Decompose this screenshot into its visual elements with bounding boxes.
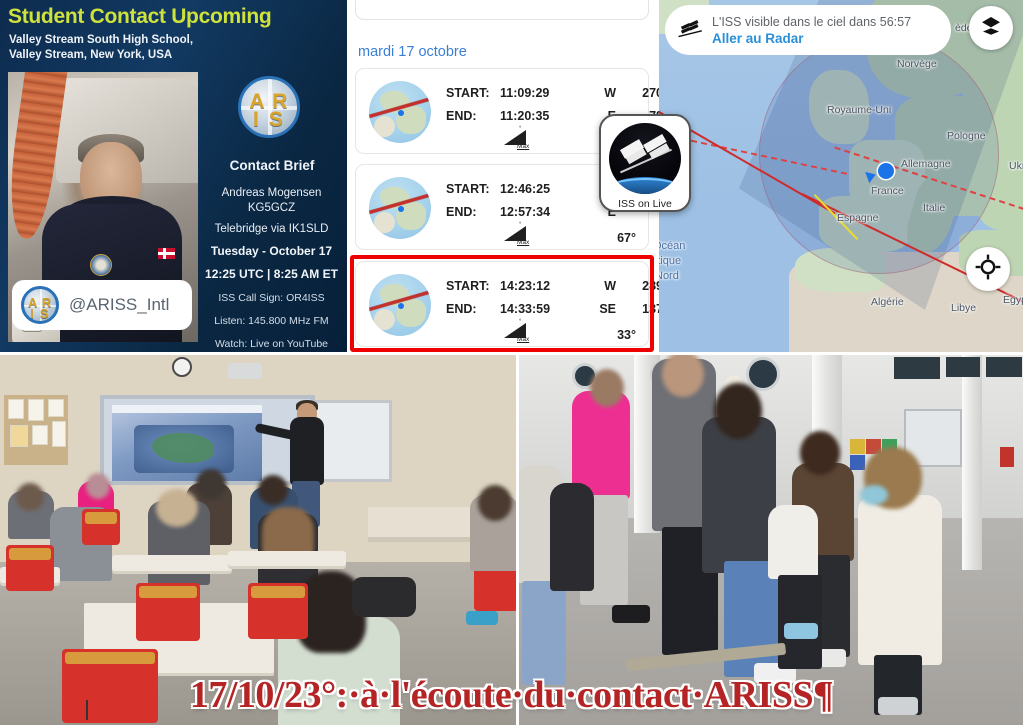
max-elevation-row: ° Max <box>504 223 534 243</box>
ariss-logo-icon: A R I S S <box>238 76 300 138</box>
projected-iss-map <box>112 405 262 481</box>
end-time: 12:57:34 <box>500 205 576 219</box>
screenshot-root: Student Contact Upcoming Valley Stream S… <box>0 0 1023 725</box>
end-label: END: <box>446 302 500 316</box>
pass-globe-thumbnail <box>369 274 431 336</box>
ocean-label-line1: Océan <box>659 240 685 252</box>
ocean-label-line3: Nord <box>659 270 679 282</box>
text-cursor <box>86 700 88 720</box>
contact-time: 12:25 UTC | 8:25 AM ET <box>196 267 347 283</box>
iss-position-marker[interactable] <box>878 163 894 179</box>
classroom-chair <box>136 583 200 641</box>
pass-globe-thumbnail <box>369 81 431 143</box>
watch-info: Watch: Live on YouTube <box>196 337 347 352</box>
blurred-head <box>258 475 288 505</box>
schoolyard-photo <box>516 355 1023 725</box>
start-azimuth: 270° <box>616 86 659 100</box>
map-locate-button[interactable] <box>966 247 1010 291</box>
visibility-footprint-circle <box>759 34 999 274</box>
max-elevation-value-2: 67° <box>617 231 636 245</box>
start-time: 12:46:25 <box>500 182 576 196</box>
fire-extinguisher <box>1000 447 1014 467</box>
end-direction: SE <box>576 302 616 316</box>
pass-globe-thumbnail <box>369 177 431 239</box>
contact-brief-details: Andreas Mogensen KG5GCZ Telebridge via I… <box>196 186 347 352</box>
porthole-window <box>746 357 780 391</box>
go-to-radar-link[interactable]: Aller au Radar <box>712 31 911 46</box>
student-legs <box>522 581 566 685</box>
country-label-algeria: Algérie <box>871 296 904 308</box>
building-column <box>962 355 982 570</box>
blurred-face <box>16 483 44 511</box>
observer-dot <box>398 206 404 212</box>
blurred-head <box>196 469 226 499</box>
blurred-head <box>478 485 512 521</box>
denmark-flag <box>158 248 175 259</box>
classroom-chair <box>248 583 308 639</box>
elevation-angle-icon: ° Max <box>504 223 534 243</box>
elevation-angle-icon: ° Max <box>504 127 534 147</box>
top-strip: Student Contact Upcoming Valley Stream S… <box>0 0 1023 355</box>
country-label-germany: Allemagne <box>901 158 951 170</box>
listen-frequency: Listen: 145.800 MHz FM <box>196 314 347 329</box>
day-header: mardi 17 octobre <box>358 44 467 60</box>
pass-card-partial[interactable]: Max 86° <box>355 0 649 20</box>
ariss-handle-text: @ARISS_Intl <box>69 295 169 315</box>
iss-on-live-icon <box>609 123 681 194</box>
color-tile <box>850 439 865 454</box>
contact-brief-heading: Contact Brief <box>202 158 342 173</box>
student-white-sleeve <box>768 505 818 579</box>
blurred-hair <box>714 383 762 439</box>
country-label-spain: Espagne <box>837 212 878 224</box>
ocean-label-line2: antique <box>659 255 681 267</box>
color-tile <box>850 455 865 470</box>
ariss-badge-icon: A R I S S <box>21 286 59 324</box>
astronaut-callsign: KG5GCZ <box>196 201 347 216</box>
locate-icon <box>975 254 1001 285</box>
layers-icon <box>979 14 1003 43</box>
end-label: END: <box>446 205 500 219</box>
blurred-face <box>86 473 110 499</box>
max-elevation-row: ° Max <box>504 127 534 147</box>
country-label-italy: Italie <box>923 202 945 214</box>
start-direction: W <box>576 86 616 100</box>
photo-divider <box>516 355 519 725</box>
country-label-poland: Pologne <box>947 130 986 142</box>
classroom-desk <box>228 551 346 566</box>
building-window <box>946 357 980 377</box>
iss-on-live-app-tooltip[interactable]: ISS on Live <box>599 114 691 212</box>
end-time: 14:33:59 <box>500 302 576 316</box>
ariss-logo: A R I S S <box>238 76 300 138</box>
classroom-photo <box>0 355 516 725</box>
map-layers-button[interactable] <box>969 6 1013 50</box>
building-window <box>894 357 940 379</box>
max-elevation-row: ° Max <box>504 320 534 340</box>
country-label-uk: Royaume-Uni <box>827 104 891 116</box>
country-label-egypt: Égypte <box>1003 294 1023 306</box>
country-label-norway: Norvège <box>897 58 937 70</box>
observer-dot <box>398 303 404 309</box>
iss-visibility-banner[interactable]: L'ISS visible dans le ciel dans 56:57 Al… <box>665 5 951 55</box>
start-label: START: <box>446 279 500 293</box>
blurred-head <box>800 431 840 475</box>
wall-clock <box>172 357 192 377</box>
blurred-face <box>590 369 624 407</box>
cork-board <box>4 395 68 465</box>
visibility-countdown-text: L'ISS visible dans le ciel dans 56:57 <box>712 15 911 29</box>
projector <box>228 363 262 379</box>
start-direction: W <box>576 279 616 293</box>
backpack <box>352 577 416 617</box>
whiteboard-right <box>312 400 392 482</box>
student-puffer-jacket <box>702 417 776 573</box>
student-dark <box>550 483 594 591</box>
slide-caption: 17/10/23°:·à·l'écoute·du·contact·ARISS¶ <box>0 673 1023 717</box>
country-label-libya: Libye <box>951 302 976 314</box>
astronaut-name: Andreas Mogensen <box>196 186 347 201</box>
start-time: 11:09:29 <box>500 86 576 100</box>
end-label: END: <box>446 109 500 123</box>
start-label: START: <box>446 182 500 196</box>
start-label: START: <box>446 86 500 100</box>
teacher-body <box>290 417 324 485</box>
start-time: 14:23:12 <box>500 279 576 293</box>
telebridge-line: Telebridge via IK1SLD <box>196 222 347 237</box>
elevation-angle-icon: ° Max <box>504 320 534 340</box>
max-elevation-value-3: 33° <box>617 328 636 342</box>
observer-dot <box>398 110 404 116</box>
page-title: Student Contact Upcoming <box>8 6 328 28</box>
iss-on-live-label: ISS on Live <box>618 198 672 210</box>
blurred-hair <box>156 489 198 527</box>
adult-white-coat <box>858 495 942 665</box>
country-label-ukraine: Ukr <box>1009 160 1023 172</box>
building-window <box>986 357 1022 377</box>
mission-patch <box>90 254 112 276</box>
school-location: Valley Stream South High School, Valley … <box>9 33 259 63</box>
start-azimuth: 289° <box>616 279 659 293</box>
contact-date: Tuesday - October 17 <box>196 244 347 260</box>
iss-icon <box>677 19 703 41</box>
pass-card-3[interactable]: START: 14:23:12 W 289° END: 14:33:59 SE … <box>355 261 649 347</box>
ariss-logo-bottom-text: I S S <box>241 108 297 138</box>
student-legs <box>778 575 822 669</box>
face-mask <box>860 485 888 505</box>
ariss-contact-poster: Student Contact Upcoming Valley Stream S… <box>0 0 347 352</box>
end-time: 11:20:35 <box>500 109 576 123</box>
ariss-handle-badge: A R I S S @ARISS_Intl <box>12 280 192 330</box>
photo-collage: 17/10/23°:·à·l'écoute·du·contact·ARISS¶ <box>0 355 1023 725</box>
iss-tracker-map[interactable]: Océan antique Nord ède Norvège Royaume-U… <box>659 0 1023 352</box>
classroom-chair <box>6 545 54 591</box>
end-azimuth: 137° <box>616 302 659 316</box>
country-label-france: France <box>871 185 904 197</box>
iss-call-sign: ISS Call Sign: OR4ISS <box>196 291 347 306</box>
classroom-desk <box>112 555 232 571</box>
classroom-chair <box>82 509 120 545</box>
